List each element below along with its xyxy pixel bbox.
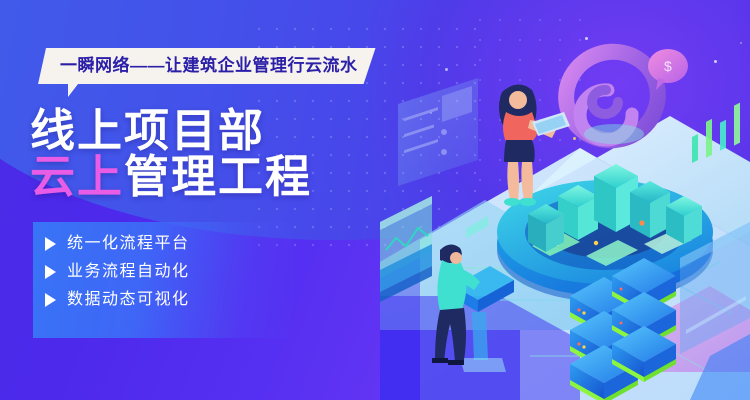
list-item: 数据动态可视化 <box>45 292 190 308</box>
list-item: 统一化流程平台 <box>45 236 190 252</box>
tagline-tail <box>68 84 78 97</box>
feature-label: 数据动态可视化 <box>67 292 190 308</box>
triangle-right-icon <box>45 237 56 251</box>
headline-accent: 云上 <box>30 151 124 202</box>
platform-accent-dot <box>594 241 598 245</box>
tagline-text: 一瞬网络——让建筑企业管理行云流水 <box>38 48 376 84</box>
feature-label: 业务流程自动化 <box>67 264 190 280</box>
headline-rest: 管理工程 <box>124 151 312 202</box>
triangle-right-icon <box>45 293 56 307</box>
platform-accent-dot <box>639 220 644 225</box>
content-left: 一瞬网络——让建筑企业管理行云流水 线上项目部 云上管理工程 统一化流程平台 业… <box>0 0 430 400</box>
triangle-right-icon <box>45 265 56 279</box>
promo-banner: ᴄᴇ <box>0 0 750 400</box>
headline-block: 线上项目部 云上管理工程 <box>30 108 312 201</box>
feature-list: 统一化流程平台 业务流程自动化 数据动态可视化 <box>45 236 190 320</box>
tagline-banner: 一瞬网络——让建筑企业管理行云流水 <box>38 48 376 84</box>
feature-label: 统一化流程平台 <box>67 236 190 252</box>
headline-line-1: 线上项目部 <box>30 108 312 154</box>
list-item: 业务流程自动化 <box>45 264 190 280</box>
headline-line-2: 云上管理工程 <box>30 154 312 200</box>
svg-text:$: $ <box>664 58 672 74</box>
illustration-isometric-scene: ᴄᴇ <box>380 0 750 400</box>
